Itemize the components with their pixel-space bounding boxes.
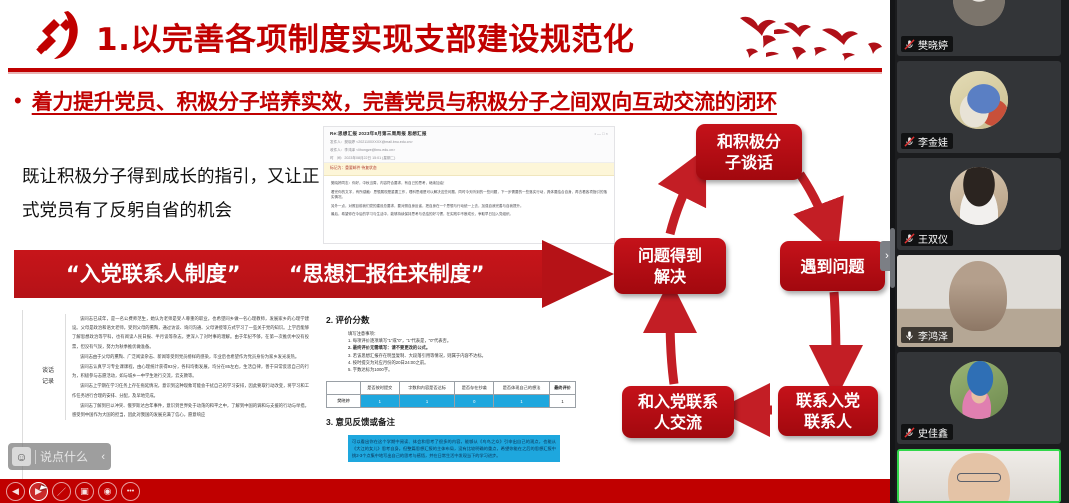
video-person-silhouette (949, 261, 1007, 331)
cell-plagiarism: 0 (455, 395, 494, 408)
col-word-count: 字数和内容是否达标 (399, 382, 455, 395)
evaluation-table: 是否按时提交 字数和内容是否达标 是否存在抄袭 是否体现自己的想法 最终评价 樊… (326, 381, 576, 408)
col-final: 最终评价 (550, 382, 576, 395)
presentation-toolbar: ◀ ▶ ／ ▣ ◉ ••• (0, 479, 890, 503)
doc-body: 该同志已成年，是一名公费师范生，她认为老师是受人尊重的职业，也希望同乡做一名心理… (65, 314, 309, 420)
doc-paragraph: 该同志上学期在学习任务上存在拖延情况，意识到这种现象可能会干扰自己的学习安排，因… (72, 381, 309, 399)
cell-name: 樊晓婷 (327, 395, 361, 408)
mic-icon (904, 330, 915, 341)
edge-talk-to-problem (800, 174, 828, 230)
col-blank (327, 382, 361, 395)
participant-name-bar: 樊晓婷 (901, 36, 953, 52)
eval-scores-heading: 2. 评价分数 (326, 314, 604, 326)
eval-note: 1. 每项评价逐项填写“1”或“0”，“1”代表是，“0”代表否。 (348, 337, 604, 344)
participant-name-bar: 李鸿泽 (901, 327, 953, 343)
title-divider (8, 68, 882, 72)
previous-slide-button[interactable]: ◀ (6, 482, 25, 501)
divider (35, 450, 36, 464)
eval-note: 5. 字数达标为1000字。 (348, 366, 604, 373)
arrow-label-right: “思想汇报往来制度” (289, 258, 485, 288)
participant-name: 李鸿泽 (918, 328, 948, 343)
slide-header: 1.以完善各项制度实现支部建设规范化 (0, 0, 890, 66)
table-header-row: 是否按时提交 字数和内容是否达标 是否存在抄袭 是否体现自己的想法 最终评价 (327, 382, 576, 395)
email-from: 发件人：樊晓婷 <2021100XXXX@mail.bnu.edu.cn> (330, 140, 608, 145)
meeting-screen-share-view: 1.以完善各项制度实现支部建设规范化 (0, 0, 1069, 503)
flow-node-talk[interactable]: 和积极分 子谈话 (696, 124, 802, 180)
email-body-line: 最后，希望你在今后的学习与生活中，能够持续保持思考与总结的好习惯，在实践中不断成… (331, 212, 607, 218)
eval-feedback-text: 可以看出你在这个学期中阅读、体会和思考了很多的内容，能够从《鸟鸟之众》引申出自己… (348, 435, 560, 462)
mic-muted-icon (904, 39, 915, 50)
doc-paragraph: 该同志认真学习专业课课程，由心理统计获得93分，各科均衡发展，均分在85左右，生… (72, 362, 309, 380)
red-arrow-banner: “入党联系人制度” “思想汇报往来制度” (14, 246, 614, 302)
participant-tile[interactable]: 樊晓婷 (897, 0, 1061, 56)
col-own-ideas: 是否体现自己的想法 (494, 382, 550, 395)
avatar (950, 167, 1008, 225)
glasses-icon (957, 473, 1001, 482)
cell-on-time: 1 (361, 395, 400, 408)
email-body-line: 另外一点，对照目前我们党的建设总要求，要对照自身反省，把自身在一个思想与行动统一… (331, 204, 607, 210)
edge-solved-to-talk (670, 172, 694, 234)
panel-scrollbar[interactable] (890, 0, 895, 503)
cell-word-count: 1 (399, 395, 455, 408)
flow-node-problem[interactable]: 遇到问题 (780, 241, 885, 291)
mic-muted-icon (904, 136, 915, 147)
smiley-icon[interactable]: ☺ (12, 447, 31, 466)
chat-input-bar[interactable]: ☺ 说点什么 ‹ (8, 443, 111, 470)
email-screenshot-image: • — □ × Re:思想汇报 2023年8月第三周周报 思想汇报 发件人：樊晓… (323, 126, 615, 244)
evaluation-form-image: 2. 评价分数 填写注意事项： 1. 每项评价逐项填写“1”或“0”，“1”代表… (322, 310, 604, 486)
more-options-button[interactable]: ••• (121, 482, 140, 501)
eval-notes-title: 填写注意事项： (348, 330, 604, 337)
arrow-label-left: “入党联系人制度” (66, 258, 241, 288)
participant-tile[interactable]: 王双仪 (897, 158, 1061, 250)
email-body-line: 看完你的文字，有所感触：思想展现是重要工作，理科思维是可以解决这些问题，同时今天… (331, 190, 607, 201)
doc-side-label: 谈话 记录 (35, 366, 61, 388)
col-on-time: 是否按时提交 (361, 382, 400, 395)
chat-input-placeholder[interactable]: 说点什么 (40, 448, 97, 465)
eval-note: 4. 按时提交为对应月份的20日24:00之前。 (348, 359, 604, 366)
participant-tile[interactable]: 史佳鑫 (897, 352, 1061, 444)
doc-paragraph: 该同志了解到巴以冲突、俄罗斯达台年事件，意识到世界处于动荡的和平之中，了解到中国… (72, 401, 309, 419)
doc-paragraph: 该同志由于父母的熏陶、广泛阅读杂志、新闻等受到党员榜样的感染，毕业后也希望作为党… (72, 352, 309, 361)
flow-node-exchange[interactable]: 和入党联系 人交流 (622, 386, 734, 438)
doc-paragraph: 该同志已成年，是一名公费师范生，她认为老师是受人尊重的职业，也希望同乡做一名心理… (72, 314, 309, 351)
zoom-button[interactable]: ◉ (98, 482, 117, 501)
cycle-flowchart: 和积极分 子谈话 遇到问题 联系入党 联系人 和入党联系 人交流 问题得到 解决 (600, 110, 890, 440)
email-date: 时 间：2023年08月22日 15:01 (星期二) (330, 156, 608, 161)
participant-name: 王双仪 (918, 231, 948, 246)
table-row: 樊晓婷 1 1 0 1 1 (327, 395, 576, 408)
participant-name: 李金娃 (918, 134, 948, 149)
email-tag-bar: 标记为：重要邮件 待复状态 (324, 163, 614, 176)
flow-node-contact[interactable]: 联系入党 联系人 (778, 386, 878, 436)
participant-tile[interactable]: 李金娃 (897, 61, 1061, 153)
mic-muted-icon (904, 233, 915, 244)
cell-final: 1 (550, 395, 576, 408)
eval-feedback-heading: 3. 意见反馈或备注 (326, 416, 604, 428)
participant-name-bar: 李金娃 (901, 133, 953, 149)
edge-exchange-to-solved (670, 306, 674, 384)
cell-own-ideas: 1 (494, 395, 550, 408)
annotate-pen-button[interactable]: ／ (52, 482, 71, 501)
avatar (950, 71, 1008, 129)
eval-note: 3. 若该思想汇报存在明显复制、大段落引用等情况，则属于内容不达标。 (348, 352, 604, 359)
participant-panel: 樊晓婷 李金娃 (890, 0, 1069, 503)
participant-name: 史佳鑫 (918, 425, 948, 440)
layout-button[interactable]: ▣ (75, 482, 94, 501)
eval-note: 2. 最终评价无需填写：请不要更改的公式。 (348, 344, 604, 351)
email-header: • — □ × Re:思想汇报 2023年8月第三周周报 思想汇报 发件人：樊晓… (324, 127, 614, 163)
bullet-marker-icon: • (14, 90, 22, 112)
participant-tile[interactable]: 李鸿泽 (897, 255, 1061, 347)
email-subject: Re:思想汇报 2023年8月第三周周报 思想汇报 (330, 131, 608, 137)
flow-node-solved[interactable]: 问题得到 解决 (614, 238, 726, 294)
edge-problem-to-contact (834, 292, 836, 372)
flying-birds-decoration-icon (718, 4, 890, 66)
page-title: 1.以完善各项制度实现支部建设规范化 (96, 14, 634, 59)
scrollbar-thumb[interactable] (890, 228, 895, 288)
hammer-sickle-emblem-icon (24, 7, 86, 63)
shared-slide: 1.以完善各项制度实现支部建设规范化 (0, 0, 890, 503)
chevron-left-icon[interactable]: ‹ (101, 451, 107, 463)
participant-name-bar: 王双仪 (901, 230, 953, 246)
email-to: 收件人：李鸿泽 <lihongze@bnu.edu.cn> (330, 148, 608, 153)
email-body-line: 樊晓婷同志：你好，中秋当周，内容符合要求，有自己的思考，继续加油！ (331, 181, 607, 187)
avatar (950, 361, 1008, 419)
col-plagiarism: 是否存在抄袭 (455, 382, 494, 395)
participant-tile-self[interactable] (897, 449, 1061, 503)
participant-name: 樊晓婷 (918, 37, 948, 52)
avatar (953, 0, 1005, 26)
eval-notes: 填写注意事项： 1. 每项评价逐项填写“1”或“0”，“1”代表是，“0”代表否… (348, 330, 604, 373)
lead-paragraph: 既让积极分子得到成长的指引，又让正式党员有了反躬自省的机会 (22, 160, 322, 228)
participant-name-bar: 史佳鑫 (901, 424, 953, 440)
email-body: 樊晓婷同志：你好，中秋当周，内容符合要求，有自己的思考，继续加油！ 看完你的文字… (324, 176, 614, 226)
mic-muted-icon (904, 427, 915, 438)
